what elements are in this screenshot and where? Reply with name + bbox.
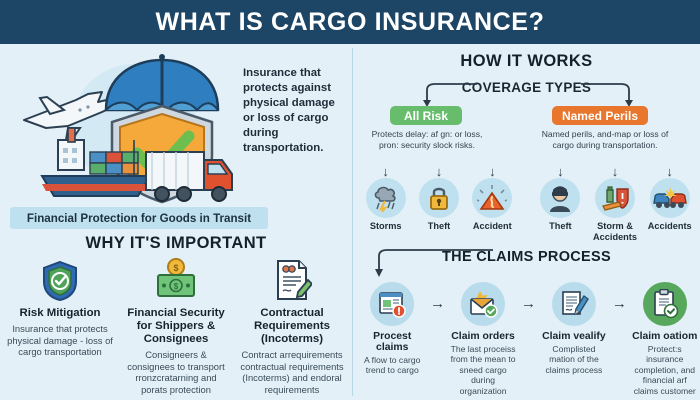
padlock-icon [419,178,459,218]
peril-label: Accident [466,221,519,232]
arrow-down-icon: ↓ [533,164,588,178]
hero-caption-bar: Financial Protection for Goods in Transi… [10,207,268,229]
benefit-title: Contractual Requirements (Incoterms) [238,307,346,346]
page-header: WHAT IS CARGO INSURANCE? [0,0,700,44]
clipboard-check-icon [643,282,687,326]
claims-process-title: THE CLAIMS PROCESS [353,249,700,265]
document-alert-icon [370,282,414,326]
document-pencil-icon [552,282,596,326]
claim-step-body: A flow to cargo trend to cargo [357,355,427,376]
arrow-down-icon: ↓ [466,164,519,178]
why-important-columns: Risk Mitigation Insurance that protects … [2,256,352,395]
how-it-works-title: HOW IT WORKS [353,52,700,71]
claim-step-orders: Claim orders The last proceiss from the … [448,282,518,396]
coverage-description-all-risk: Protects delay: af gn: or loss, pron: se… [365,129,489,150]
peril-item-accidents: ↓ Accidents [642,164,697,242]
benefit-body: Contract arrequirements contractual requ… [238,349,346,395]
burglar-thief-icon [540,178,580,218]
benefit-body: Insurance that protects physical damage … [6,323,114,358]
benefit-item-contractual: Contractual Requirements (Incoterms) Con… [234,256,350,395]
peril-label: Accidents [642,221,697,232]
arrow-down-icon: ↓ [412,164,465,178]
peril-item-storms: ↓ Storms [359,164,412,232]
peril-row-all-risk: ↓ Storms ↓ [359,164,519,232]
peril-label: Storm & Accidents [588,221,643,242]
hero-caption-text: Financial Protection for Goods in Transi… [27,212,251,225]
benefit-item-financial-security: $ $ Financial Security for Shippers & Co… [118,256,234,395]
claim-step-title: Claim vealify [539,331,609,342]
accident-warning-icon [472,178,512,218]
peril-item-theft-named: ↓ Theft [533,164,588,242]
envelope-check-icon [461,282,505,326]
peril-item-accident: ↓ Accident [466,164,519,232]
storm-damage-shield-icon [595,178,635,218]
arrow-down-icon: ↓ [359,164,412,178]
svg-text:$: $ [174,282,179,291]
peril-label: Storms [359,221,412,232]
claim-step-title: Procest claims [357,331,427,353]
contract-document-icon [238,256,346,302]
storm-cloud-lightning-icon [366,178,406,218]
claim-step-body: The last proceiss from the mean to sneed… [448,344,518,396]
peril-label: Theft [533,221,588,232]
claim-step-body: Protect:s insurance completion, and fina… [630,344,700,396]
coverage-branch-connector [353,74,700,108]
peril-item-theft: ↓ Theft [412,164,465,232]
benefit-body: Consigneers & consignees to transport rr… [122,349,230,395]
arrow-down-icon: ↓ [588,164,643,178]
claims-process-steps: Procest claims A flow to cargo trend to … [357,282,700,396]
claim-step-body: Complisted mation of the claims process [539,344,609,375]
money-banknote-icon: $ $ [122,256,230,302]
page-title: WHAT IS CARGO INSURANCE? [156,8,545,37]
claim-step-completion: Claim oatiom Protect:s insurance complet… [630,282,700,396]
peril-row-named-perils: ↓ Theft ↓ [533,164,697,242]
right-panel: HOW IT WORKS COVERAGE TYPES All Risk Nam… [353,44,700,400]
benefit-title: Risk Mitigation [6,307,114,320]
svg-text:$: $ [173,263,178,273]
coverage-badge-named-perils[interactable]: Named Perils [552,106,648,125]
arrow-down-icon: ↓ [642,164,697,178]
why-important-title: WHY IT'S IMPORTANT [0,234,352,253]
benefit-item-risk-mitigation: Risk Mitigation Insurance that protects … [2,256,118,395]
step-arrow-icon: → [518,282,538,311]
coverage-badge-all-risk[interactable]: All Risk [390,106,462,125]
infographic-page: WHAT IS CARGO INSURANCE? [0,0,700,400]
left-panel: Insurance that protects against physical… [0,44,352,400]
claim-step-title: Claim orders [448,331,518,342]
step-arrow-icon: → [609,282,629,311]
shield-check-icon [6,256,114,302]
peril-label: Theft [412,221,465,232]
definition-text: Insurance that protects against physical… [243,66,347,156]
truck-icon [146,152,232,201]
peril-item-storm-accidents: ↓ Storm & Accidents [588,164,643,242]
claim-step-process: Procest claims A flow to cargo trend to … [357,282,427,376]
claim-step-title: Claim oatiom [630,331,700,342]
benefit-title: Financial Security for Shippers & Consig… [122,307,230,346]
hero-illustration [6,48,236,213]
car-crash-icon [650,178,690,218]
coverage-description-named-perils: Named perils, and-map or loss of cargo d… [535,129,675,150]
claim-step-verify: Claim vealify Complisted mation of the c… [539,282,609,375]
step-arrow-icon: → [427,282,447,311]
